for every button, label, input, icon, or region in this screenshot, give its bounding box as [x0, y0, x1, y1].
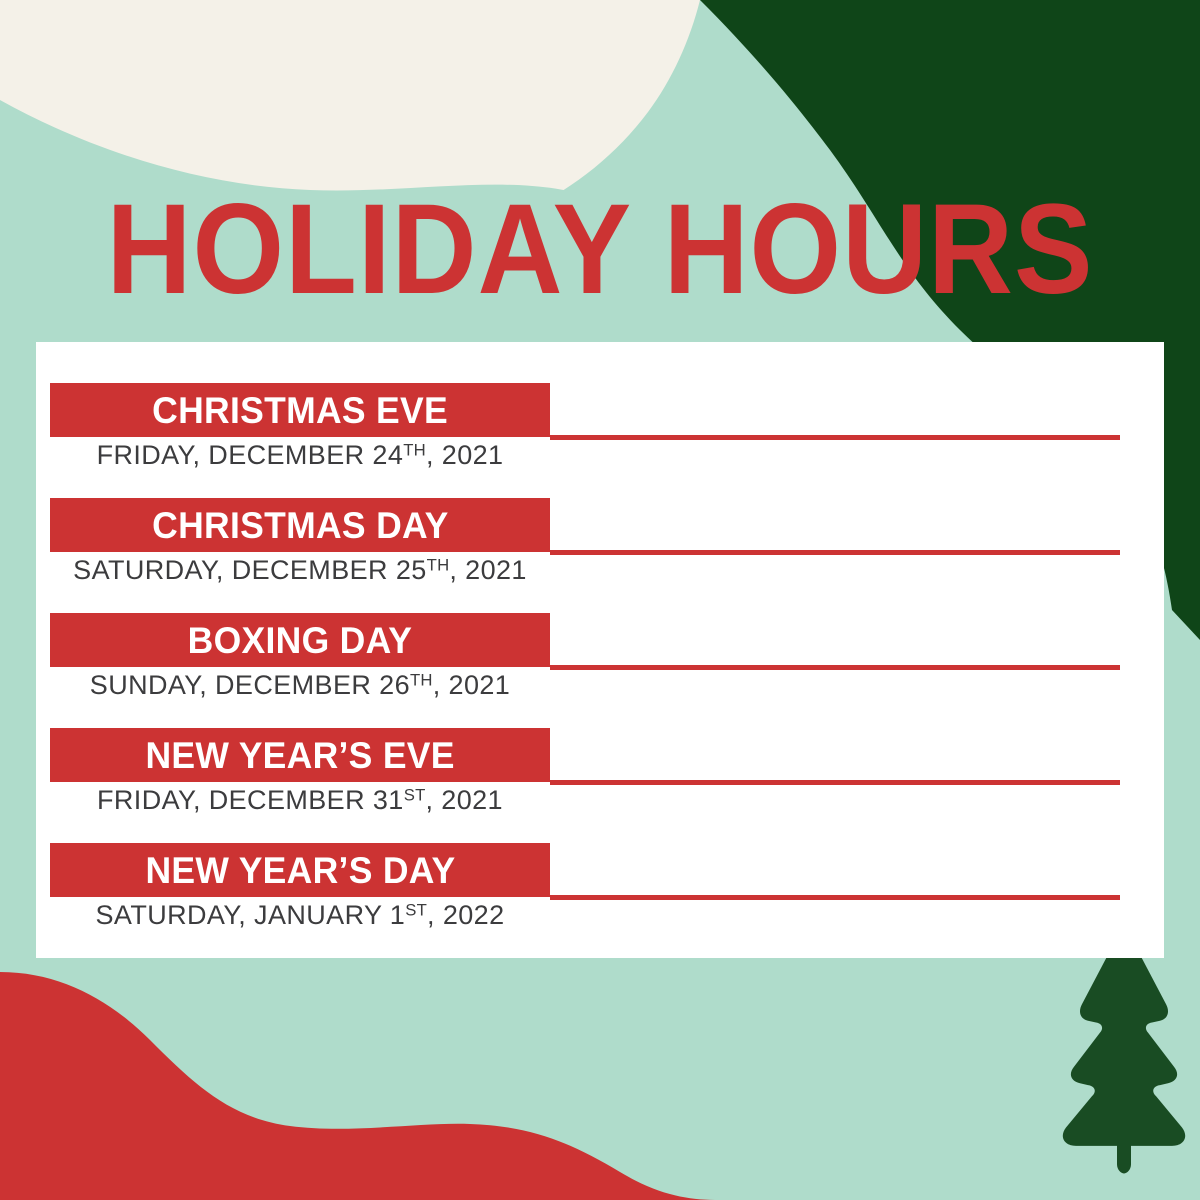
holiday-name-label: BOXING DAY	[188, 622, 413, 659]
holiday-hours-poster: HOLIDAY HOURS CHRISTMAS EVE FRIDAY, DECE…	[0, 0, 1200, 1200]
holiday-name-label: NEW YEAR’S DAY	[145, 852, 455, 889]
holiday-name-chip: CHRISTMAS EVE	[50, 383, 550, 437]
schedule-rows: CHRISTMAS EVE FRIDAY, DECEMBER 24TH, 202…	[36, 342, 1164, 917]
table-row: NEW YEAR’S DAY SATURDAY, JANUARY 1ST, 20…	[36, 802, 1164, 917]
holiday-name-label: CHRISTMAS DAY	[152, 507, 448, 544]
holiday-name-label: CHRISTMAS EVE	[152, 392, 448, 429]
table-row: CHRISTMAS EVE FRIDAY, DECEMBER 24TH, 202…	[36, 342, 1164, 457]
holiday-date-year: , 2022	[427, 900, 504, 930]
hours-write-in-rule[interactable]	[550, 550, 1120, 555]
table-row: NEW YEAR’S EVE FRIDAY, DECEMBER 31ST, 20…	[36, 687, 1164, 802]
table-row: CHRISTMAS DAY SATURDAY, DECEMBER 25TH, 2…	[36, 457, 1164, 572]
page-title: HOLIDAY HOURS	[48, 186, 1152, 314]
holiday-date-weekday: SATURDAY, JANUARY 1	[96, 900, 406, 930]
holiday-name-chip: NEW YEAR’S DAY	[50, 843, 550, 897]
holiday-name-chip: NEW YEAR’S EVE	[50, 728, 550, 782]
table-row: BOXING DAY SUNDAY, DECEMBER 26TH, 2021	[36, 572, 1164, 687]
hours-write-in-rule[interactable]	[550, 895, 1120, 900]
holiday-name-label: NEW YEAR’S EVE	[145, 737, 454, 774]
schedule-card: CHRISTMAS EVE FRIDAY, DECEMBER 24TH, 202…	[36, 342, 1164, 958]
holiday-date-label: SATURDAY, JANUARY 1ST, 2022	[50, 902, 550, 929]
holiday-date-ordinal: ST	[405, 900, 427, 919]
holiday-name-chip: BOXING DAY	[50, 613, 550, 667]
hours-write-in-rule[interactable]	[550, 780, 1120, 785]
holiday-name-chip: CHRISTMAS DAY	[50, 498, 550, 552]
hours-write-in-rule[interactable]	[550, 435, 1120, 440]
hours-write-in-rule[interactable]	[550, 665, 1120, 670]
